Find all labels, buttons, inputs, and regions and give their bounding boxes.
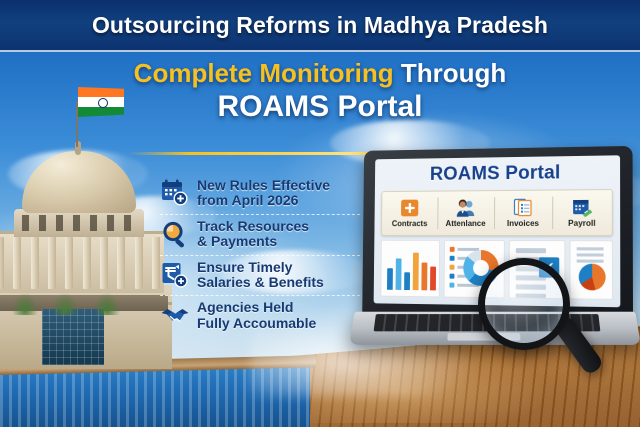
list-item-line-1: New Rules Effective	[197, 178, 330, 193]
government-building	[0, 139, 172, 369]
building-columns	[0, 237, 160, 289]
shrub-shape	[94, 293, 120, 315]
magnifying-glass	[478, 258, 570, 350]
orange-plus-icon	[400, 199, 419, 218]
headline-line-2: ROAMS Portal	[0, 90, 640, 124]
list-item-line-1: Ensure Timely	[197, 260, 324, 275]
building-glass-facade	[42, 309, 104, 365]
tile-attendance[interactable]: Attenlance	[437, 191, 494, 235]
dome-drum	[14, 209, 144, 237]
list-item-line-2: from April 2026	[197, 193, 330, 208]
headline-line-1: Complete Monitoring Through	[0, 58, 640, 89]
handshake-icon	[160, 301, 190, 331]
tile-invoices[interactable]: Invoices	[494, 191, 552, 235]
headline-rest: Through	[401, 58, 506, 88]
portal-title: ROAMS Portal	[375, 155, 620, 189]
list-item-line-2: Salaries & Benefits	[197, 275, 324, 290]
magnifier-lens	[478, 258, 570, 350]
list-item-line-2: & Payments	[197, 234, 309, 249]
pie-widget-lines	[577, 247, 604, 262]
tile-payroll[interactable]: Payroll	[552, 190, 612, 235]
bar-chart-bars	[387, 251, 436, 291]
list-item: Ensure Timely Salaries & Benefits	[160, 255, 360, 296]
tile-label: Contracts	[392, 219, 428, 228]
list-item: New Rules Effective from April 2026	[160, 174, 360, 214]
feature-list: New Rules Effective from April 2026 Trac…	[160, 174, 360, 336]
tile-label: Payroll	[568, 219, 595, 228]
tile-contracts[interactable]: Contracts	[382, 192, 438, 235]
money-document-icon	[160, 260, 190, 290]
shrub-shape	[12, 293, 38, 315]
list-item-label: New Rules Effective from April 2026	[197, 178, 330, 209]
shrub-shape	[52, 293, 78, 315]
pie-chart-widget[interactable]	[569, 240, 613, 300]
list-item: Agencies Held Fully Accoumable	[160, 295, 360, 336]
documents-icon	[513, 198, 533, 217]
top-banner: Outsourcing Reforms in Madhya Pradesh	[0, 0, 640, 52]
list-item-line-1: Track Resources	[197, 219, 309, 234]
list-item-label: Agencies Held Fully Accoumable	[197, 300, 316, 331]
bar-chart-widget[interactable]	[380, 240, 440, 298]
infographic-poster: Outsourcing Reforms in Madhya Pradesh Co…	[0, 0, 640, 427]
portal-tile-bar: Contracts Attenlance	[381, 189, 613, 236]
magnifier-icon	[160, 219, 190, 249]
pie-chart	[579, 264, 606, 291]
list-item-label: Track Resources & Payments	[197, 219, 309, 250]
list-item: Track Resources & Payments	[160, 214, 360, 255]
calendar-plus-icon	[160, 178, 190, 208]
people-icon	[456, 198, 476, 217]
list-item-line-1: Agencies Held	[197, 300, 316, 315]
headline-highlight: Complete Monitoring	[134, 58, 394, 88]
tile-label: Attenlance	[446, 219, 486, 228]
list-item-line-2: Fully Accoumable	[197, 316, 316, 331]
list-item-label: Ensure Timely Salaries & Benefits	[197, 260, 324, 291]
headline-block: Complete Monitoring Through ROAMS Portal	[0, 58, 640, 123]
tile-label: Invoices	[507, 219, 539, 228]
building-dome	[22, 151, 136, 213]
calendar-money-icon	[572, 197, 593, 216]
banner-title: Outsourcing Reforms in Madhya Pradesh	[92, 12, 548, 39]
